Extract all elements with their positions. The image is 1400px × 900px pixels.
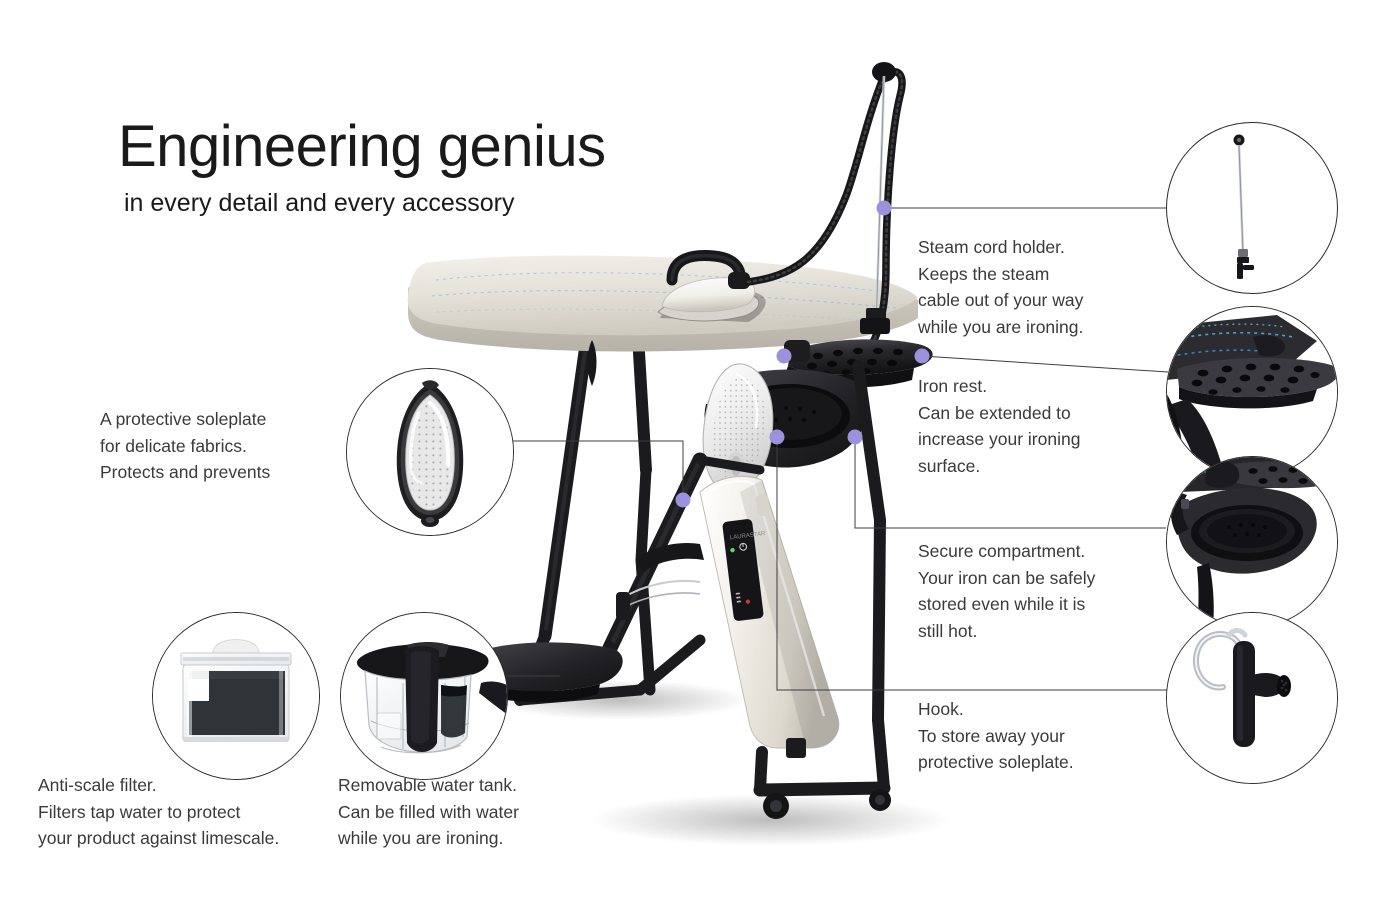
callout-line: increase your ironing bbox=[918, 426, 1080, 453]
callout-line: Protects and prevents bbox=[100, 459, 270, 486]
callout-protective-soleplate: A protective soleplate for delicate fabr… bbox=[100, 406, 270, 486]
hotspot-iron-rest-left[interactable] bbox=[777, 349, 792, 364]
page-subtitle: in every detail and every accessory bbox=[124, 187, 738, 220]
headline-block: Engineering genius in every detail and e… bbox=[118, 118, 738, 220]
perforated-iron-rest-icon bbox=[1167, 307, 1337, 477]
callout-line: stored even while it is bbox=[918, 591, 1095, 618]
detail-circle-protective-soleplate[interactable] bbox=[346, 368, 514, 536]
callout-line: protective soleplate. bbox=[918, 749, 1074, 776]
callout-line: while you are ironing. bbox=[918, 314, 1083, 341]
callout-line: surface. bbox=[918, 453, 1080, 480]
callout-secure-compartment: Secure compartment. Your iron can be saf… bbox=[918, 538, 1095, 644]
callout-line: Steam cord holder. bbox=[918, 234, 1083, 261]
callout-line: your product against limescale. bbox=[38, 825, 279, 852]
subtitle-line-2: and every accessory bbox=[285, 189, 514, 217]
callout-line: cable out of your way bbox=[918, 287, 1083, 314]
storage-basin-icon bbox=[1167, 457, 1337, 627]
callout-line: still hot. bbox=[918, 618, 1095, 645]
callout-steam-cord-holder: Steam cord holder. Keeps the steam cable… bbox=[918, 234, 1083, 340]
infographic-canvas: LAURASTAR bbox=[0, 0, 1400, 900]
detail-circle-water-tank[interactable] bbox=[340, 612, 508, 780]
callout-line: Secure compartment. bbox=[918, 538, 1095, 565]
hotspot-protective-soleplate[interactable] bbox=[770, 430, 785, 445]
hotspot-iron-rest-right[interactable] bbox=[915, 349, 930, 364]
soleplate-icon bbox=[347, 369, 513, 535]
detail-circle-steam-cord-holder[interactable] bbox=[1166, 122, 1338, 294]
hotspot-steam-cord-holder[interactable] bbox=[877, 201, 892, 216]
callout-line: Iron rest. bbox=[918, 373, 1080, 400]
callout-line: Can be extended to bbox=[918, 400, 1080, 427]
callout-line: for delicate fabrics. bbox=[100, 433, 270, 460]
steam-generator-base: LAURASTAR bbox=[700, 476, 839, 758]
page-title: Engineering genius bbox=[118, 118, 738, 176]
hotspot-secure-compartment[interactable] bbox=[848, 430, 863, 445]
water-tank-icon bbox=[341, 613, 507, 779]
callout-line: Can be filled with water bbox=[338, 799, 519, 826]
callout-anti-scale-filter: Anti-scale filter. Filters tap water to … bbox=[38, 772, 279, 852]
scissor-hinge bbox=[616, 543, 704, 620]
subtitle-line-1: in every detail bbox=[124, 189, 278, 217]
filter-cartridge-icon bbox=[153, 613, 319, 779]
callout-iron-rest: Iron rest. Can be extended to increase y… bbox=[918, 373, 1080, 479]
detail-circle-iron-rest[interactable] bbox=[1166, 306, 1338, 478]
callout-line: while you are ironing. bbox=[338, 825, 519, 852]
detail-circle-secure-compartment[interactable] bbox=[1166, 456, 1338, 628]
callout-line: Your iron can be safely bbox=[918, 565, 1095, 592]
detail-circle-hook[interactable] bbox=[1166, 612, 1338, 784]
callout-line: Hook. bbox=[918, 696, 1074, 723]
callout-hook: Hook. To store away your protective sole… bbox=[918, 696, 1074, 776]
callout-line: Keeps the steam bbox=[918, 261, 1083, 288]
callout-line: To store away your bbox=[918, 723, 1074, 750]
hotspot-soleplate-attachment[interactable] bbox=[676, 493, 691, 508]
detail-circle-anti-scale-filter[interactable] bbox=[152, 612, 320, 780]
chrome-hook-icon bbox=[1167, 613, 1337, 783]
cord-holder-rod-icon bbox=[1167, 123, 1337, 293]
callout-removable-water-tank: Removable water tank. Can be filled with… bbox=[338, 772, 519, 852]
callout-line: A protective soleplate bbox=[100, 406, 270, 433]
callout-line: Filters tap water to protect bbox=[38, 799, 279, 826]
